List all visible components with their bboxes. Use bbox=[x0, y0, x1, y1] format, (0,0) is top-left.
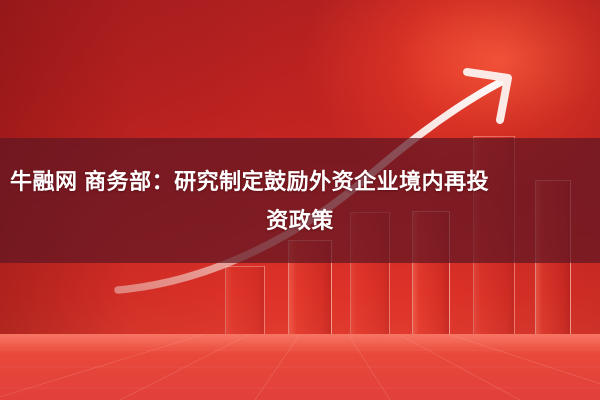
caption-line-2: 资政策 bbox=[266, 201, 334, 240]
floor-grid-lines bbox=[0, 334, 600, 400]
perspective-grid-floor bbox=[0, 334, 600, 400]
news-thumbnail-image: 牛融网 商务部：研究制定鼓励外资企业境内再投 资政策 bbox=[0, 0, 600, 400]
caption-text-block: 牛融网 商务部：研究制定鼓励外资企业境内再投 资政策 bbox=[0, 138, 600, 263]
caption-line-1: 牛融网 商务部：研究制定鼓励外资企业境内再投 bbox=[0, 162, 489, 201]
